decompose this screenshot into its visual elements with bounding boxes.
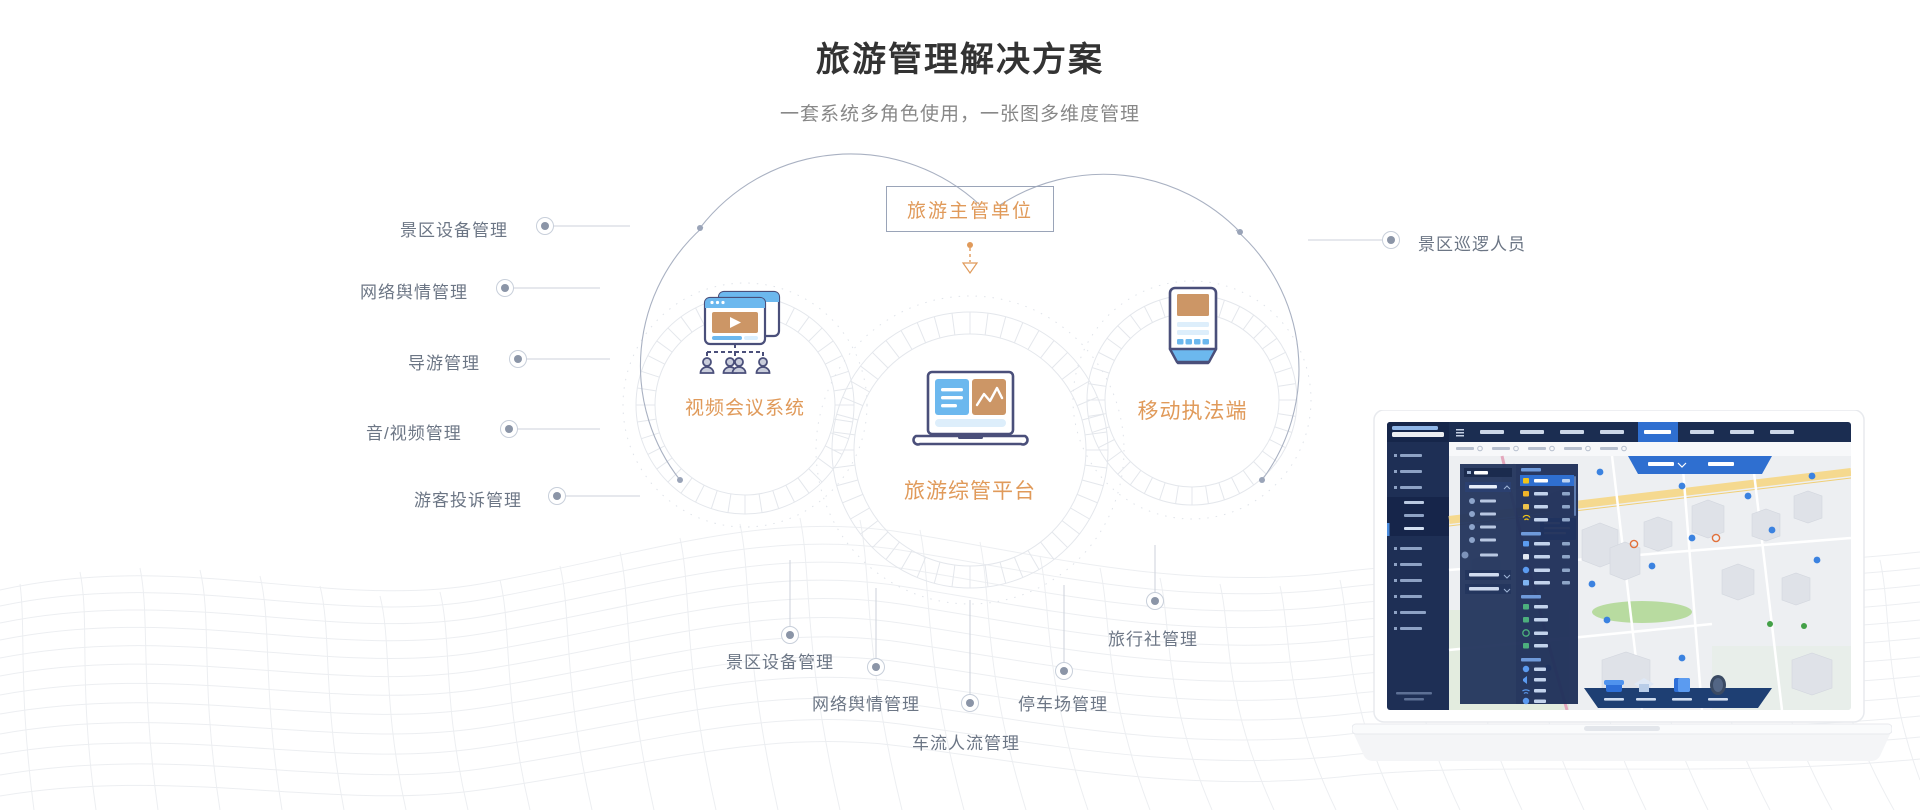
page-header: 旅游管理解决方案 一套系统多角色使用，一张图多维度管理 — [0, 40, 1920, 126]
authority-badge-label: 旅游主管单位 — [907, 196, 1033, 223]
label-left-2[interactable]: 导游管理 — [408, 349, 480, 374]
label-left-4[interactable]: 游客投诉管理 — [414, 486, 522, 511]
label-left-1[interactable]: 网络舆情管理 — [360, 278, 468, 303]
badge-side-right — [1053, 208, 1054, 210]
bottom-leader-lines — [790, 545, 1155, 700]
node-mobile-terminal-label: 移动执法端 — [1125, 395, 1260, 425]
laptop-dashboard-icon — [908, 368, 1033, 456]
label-left-3[interactable]: 音/视频管理 — [366, 419, 462, 444]
badge-side-top — [908, 186, 1032, 187]
solution-diagram-page: 旅游管理解决方案 一套系统多角色使用，一张图多维度管理 — [0, 0, 1920, 810]
video-conference-icon — [689, 288, 801, 378]
label-right-0[interactable]: 景区巡逻人员 — [1418, 230, 1526, 255]
badge-corner-tl — [886, 186, 909, 209]
badge-corner-bl — [886, 209, 909, 232]
node-mobile-terminal[interactable]: 移动执法端 — [1125, 284, 1260, 425]
node-video-conference[interactable]: 视频会议系统 — [645, 288, 845, 420]
left-leader-lines — [508, 226, 640, 496]
node-platform[interactable]: 旅游综管平台 — [870, 368, 1070, 505]
page-subtitle: 一套系统多角色使用，一张图多维度管理 — [0, 99, 1920, 126]
label-bottom-3[interactable]: 停车场管理 — [1018, 690, 1108, 715]
mobile-terminal-icon — [1157, 284, 1229, 376]
laptop-mockup — [1352, 410, 1892, 770]
label-left-0[interactable]: 景区设备管理 — [400, 216, 508, 241]
label-bottom-4[interactable]: 旅行社管理 — [1108, 625, 1198, 650]
badge-side-bottom — [908, 231, 1032, 232]
page-title: 旅游管理解决方案 — [0, 40, 1920, 81]
authority-badge[interactable]: 旅游主管单位 — [886, 186, 1054, 232]
label-bottom-2[interactable]: 车流人流管理 — [912, 729, 1020, 754]
badge-side-left — [886, 208, 887, 210]
badge-corner-tr — [1031, 186, 1054, 209]
badge-corner-br — [1031, 209, 1054, 232]
node-platform-label: 旅游综管平台 — [870, 475, 1070, 505]
node-video-conference-label: 视频会议系统 — [645, 393, 845, 420]
label-bottom-1[interactable]: 网络舆情管理 — [812, 690, 920, 715]
authority-connector — [963, 242, 977, 273]
label-bottom-0[interactable]: 景区设备管理 — [726, 648, 834, 673]
